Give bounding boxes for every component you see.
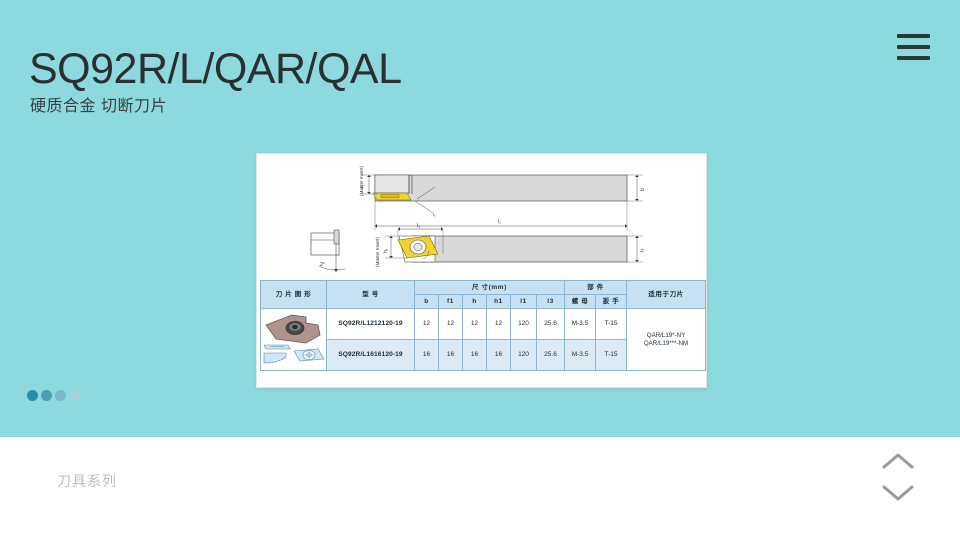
footer-category-label: 刀具系列 [57,471,117,491]
cell-h: 16 [463,340,487,371]
dim-label-angle: 2° [320,262,325,268]
cell-l3: 25.6 [537,340,565,371]
dim-label-b: b [640,188,646,191]
cell-f1: 12 [439,309,463,340]
insert-shape-images [261,309,327,371]
cell-model: SQ92R/L1212120-19 [327,309,415,340]
subheader-b: b [415,295,439,309]
header-dimensions: 尺 寸(mm) [415,281,565,295]
tool-holder-technical-drawing: l₃ f₁ b [257,154,707,282]
page-subtitle: 硬质合金 切断刀片 [30,96,167,118]
hamburger-bar-3 [897,56,930,60]
cell-l3: 25.6 [537,309,565,340]
master-insert-label-top: (Master Insert) [359,166,364,196]
footer-bar [0,437,960,540]
cell-h1: 12 [487,309,511,340]
hamburger-bar-2 [897,45,930,49]
chevron-up-icon[interactable] [881,452,915,470]
subheader-f1: f1 [439,295,463,309]
carousel-dot-1[interactable] [27,390,38,401]
header-applicable-inserts: 适用于刀片 [627,281,706,309]
cell-wrench: T-15 [596,309,627,340]
dim-label-l3: l₃ [417,223,420,229]
carousel-dot-3[interactable] [55,390,66,401]
dim-label-h: h [640,249,646,252]
specification-table: 刀 片 图 形 型 号 尺 寸(mm) 部 件 适用于刀片 b f1 h h1 … [260,280,706,371]
scroll-nav-control[interactable] [875,452,921,502]
hamburger-menu-icon[interactable] [897,34,930,60]
cell-l1: 120 [511,340,537,371]
cell-applicable-inserts: QAR/L19*-NY QAR/L19***-NM [627,309,706,371]
applicable-insert-line-2: QAR/L19***-NM [627,340,705,347]
subheader-nut: 螺 母 [565,295,596,309]
applicable-insert-line-1: QAR/L19*-NY [627,332,705,339]
cell-h: 12 [463,309,487,340]
hero-panel: SQ92R/L/QAR/QAL 硬质合金 切断刀片 [0,0,960,437]
header-insert-shape: 刀 片 图 形 [261,281,327,309]
page-title: SQ92R/L/QAR/QAL [29,43,402,95]
cell-b: 12 [415,309,439,340]
cell-wrench: T-15 [596,340,627,371]
subheader-l1: l1 [511,295,537,309]
dim-label-h1: h₁ [383,248,389,253]
table-row: SQ92R/L1212120-19 12 12 12 12 120 25.6 M… [261,309,706,340]
cell-h1: 16 [487,340,511,371]
cell-model: SQ92R/L1616120-19 [327,340,415,371]
header-parts: 部 件 [565,281,627,295]
hamburger-bar-1 [897,34,930,38]
cell-nut: M-3.5 [565,340,596,371]
carousel-dot-2[interactable] [41,390,52,401]
insert-illustration [262,309,326,367]
carousel-dot-4[interactable] [69,390,80,401]
slide-root: SQ92R/L/QAR/QAL 硬质合金 切断刀片 [0,0,960,540]
cell-b: 16 [415,340,439,371]
subheader-l3: l3 [537,295,565,309]
subheader-wrench: 扳 手 [596,295,627,309]
header-model: 型 号 [327,281,415,309]
chevron-down-icon[interactable] [881,484,915,502]
subheader-h: h [463,295,487,309]
dim-label-l1: l₁ [498,219,501,225]
carousel-dots[interactable] [27,390,80,401]
svg-text:l₃: l₃ [433,212,436,217]
master-insert-label-bottom: (Master Insert) [375,237,380,267]
cell-f1: 16 [439,340,463,371]
table-header-row-1: 刀 片 图 形 型 号 尺 寸(mm) 部 件 适用于刀片 [261,281,706,295]
subheader-h1: h1 [487,295,511,309]
cell-nut: M-3.5 [565,309,596,340]
product-spec-card[interactable]: l₃ f₁ b [256,153,707,388]
cell-l1: 120 [511,309,537,340]
